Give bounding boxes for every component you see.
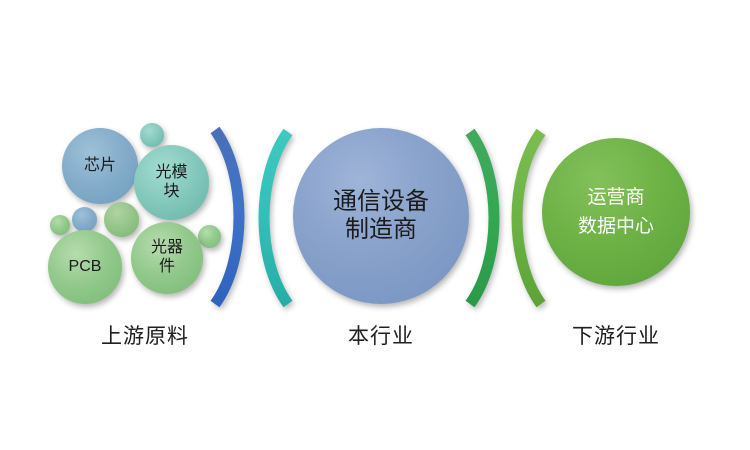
diagram-canvas: 芯片 光模 块 PCB 光器 件 <box>0 0 750 450</box>
bubble-operator-datacenter-label: 运营商 数据中心 <box>578 183 654 242</box>
accent-bubble-blue-small <box>72 207 97 232</box>
bubble-equipment-manufacturer[interactable]: 通信设备 制造商 <box>293 128 469 304</box>
bubble-optical-module-label: 光模 块 <box>155 164 187 202</box>
bubble-chip-label: 芯片 <box>84 157 116 176</box>
bubble-optical-module[interactable]: 光模 块 <box>134 145 209 220</box>
category-label-downstream: 下游行业 <box>516 320 716 350</box>
category-label-upstream: 上游原料 <box>45 320 245 350</box>
bubble-operator-datacenter[interactable]: 运营商 数据中心 <box>542 138 690 286</box>
bubble-equipment-manufacturer-label: 通信设备 制造商 <box>333 188 429 245</box>
accent-bubble-green-small-left <box>50 215 70 235</box>
category-label-industry: 本行业 <box>281 320 481 350</box>
accent-bubble-green-medium <box>104 202 139 237</box>
accent-bubble-teal-top <box>140 123 164 147</box>
bubble-optical-device-label: 光器 件 <box>151 239 183 277</box>
bubble-pcb[interactable]: PCB <box>48 230 122 304</box>
bubble-pcb-label: PCB <box>69 258 102 277</box>
arc-blue-right-bracket <box>205 122 255 312</box>
bubble-chip[interactable]: 芯片 <box>62 128 138 204</box>
bubble-optical-device[interactable]: 光器 件 <box>131 222 203 294</box>
